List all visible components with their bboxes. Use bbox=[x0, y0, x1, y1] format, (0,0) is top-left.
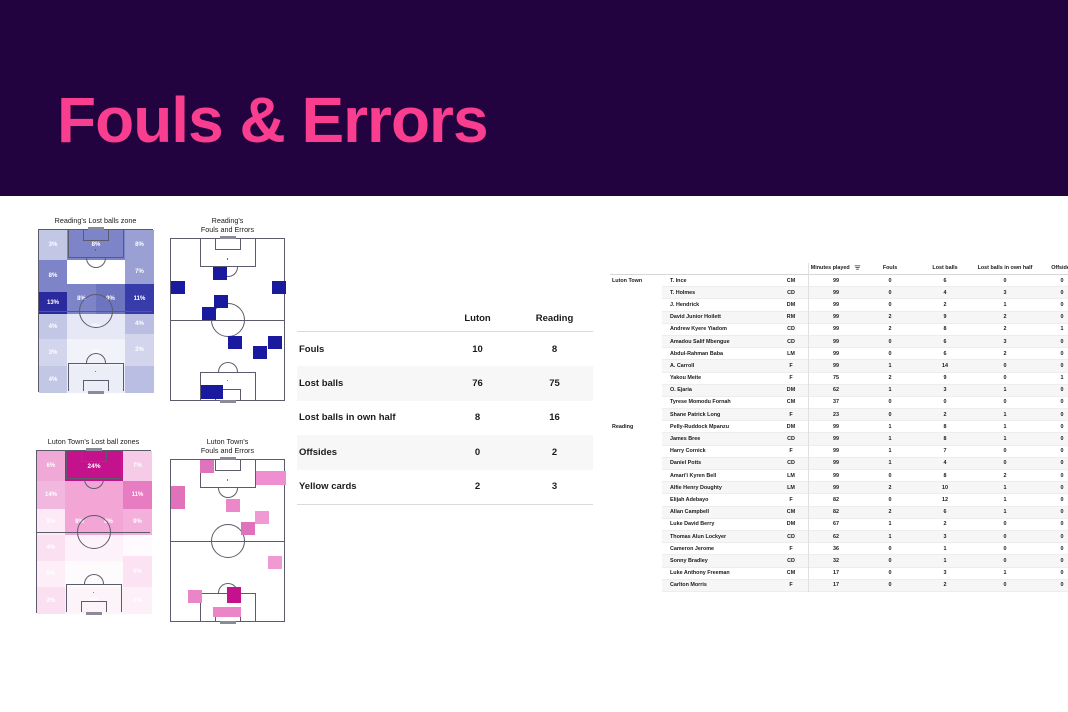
player-lost-balls: 2 bbox=[916, 579, 974, 591]
player-offsides: 0 bbox=[1036, 384, 1068, 396]
player-position: CD bbox=[774, 530, 808, 542]
player-offsides: 0 bbox=[1036, 409, 1068, 421]
match-summary-table: Luton Reading Fouls 10 8 Lost balls 76 7… bbox=[297, 313, 593, 505]
player-lost-balls-own-half: 0 bbox=[974, 275, 1036, 287]
player-fouls: 0 bbox=[864, 567, 916, 579]
zone-cell: 0% bbox=[65, 587, 123, 614]
player-position: CD bbox=[774, 457, 808, 469]
player-position: F bbox=[774, 360, 808, 372]
pitch-title-reading-fouls: Reading's Fouls and Errors bbox=[170, 216, 285, 234]
player-table-row[interactable]: Andrew Kyere YiadomCD992821 bbox=[610, 323, 1068, 335]
zone-cell: 9% bbox=[96, 284, 125, 314]
summary-header-reading: Reading bbox=[516, 313, 593, 332]
player-minutes-played: 17 bbox=[808, 567, 864, 579]
player-table-row[interactable]: Luke Anthony FreemanCM170310 bbox=[610, 567, 1068, 579]
player-table-row[interactable]: Allan CampbellCM822610 bbox=[610, 506, 1068, 518]
player-table-header-row: Minutes played Fouls Lost balls Lost bal… bbox=[610, 263, 1068, 275]
player-table-row[interactable]: Harry CornickF991700 bbox=[610, 445, 1068, 457]
player-name: Carlton Morris bbox=[662, 579, 774, 591]
player-position: CM bbox=[774, 567, 808, 579]
player-minutes-played: 37 bbox=[808, 396, 864, 408]
zone-cell bbox=[125, 366, 154, 393]
player-lost-balls-own-half: 3 bbox=[974, 335, 1036, 347]
player-lost-balls-own-half: 0 bbox=[974, 579, 1036, 591]
foul-marker bbox=[213, 607, 241, 617]
player-table-row[interactable]: Abdul-Rahman BabaLM990620 bbox=[610, 348, 1068, 360]
player-minutes-played: 99 bbox=[808, 348, 864, 360]
player-lost-balls: 6 bbox=[916, 506, 974, 518]
zone-cell: 0% bbox=[37, 561, 65, 587]
player-table-row[interactable]: Shane Patrick LongF230210 bbox=[610, 409, 1068, 421]
player-fouls: 0 bbox=[864, 396, 916, 408]
summary-row-yellow-cards: Yellow cards 2 3 bbox=[297, 470, 593, 505]
foul-marker bbox=[256, 471, 286, 485]
zone-cell: 14% bbox=[37, 481, 65, 509]
player-table-row[interactable]: Daniel PottsCD991400 bbox=[610, 457, 1068, 469]
player-name: Allan Campbell bbox=[662, 506, 774, 518]
player-position: F bbox=[774, 494, 808, 506]
player-team-label bbox=[610, 348, 662, 360]
player-table-row[interactable]: A. CarrollF9911400 bbox=[610, 360, 1068, 372]
player-team-label bbox=[610, 579, 662, 591]
player-position: DM bbox=[774, 299, 808, 311]
player-fouls: 0 bbox=[864, 348, 916, 360]
player-fouls: 1 bbox=[864, 421, 916, 433]
player-minutes-played: 99 bbox=[808, 335, 864, 347]
player-offsides: 0 bbox=[1036, 494, 1068, 506]
zone-cell: 8% bbox=[94, 509, 123, 535]
player-name: Amadou Salif Mbengue bbox=[662, 335, 774, 347]
player-lost-balls: 9 bbox=[916, 311, 974, 323]
player-lost-balls: 4 bbox=[916, 457, 974, 469]
player-name: Daniel Potts bbox=[662, 457, 774, 469]
player-position: CD bbox=[774, 323, 808, 335]
player-team-label bbox=[610, 470, 662, 482]
summary-header-row: Luton Reading bbox=[297, 313, 593, 332]
foul-marker bbox=[171, 486, 185, 509]
page-title: Fouls & Errors bbox=[57, 88, 488, 152]
summary-value-reading: 3 bbox=[516, 470, 593, 505]
player-name: Shane Patrick Long bbox=[662, 409, 774, 421]
player-lost-balls-own-half: 1 bbox=[974, 299, 1036, 311]
zone-cell: 8% bbox=[39, 260, 67, 292]
player-minutes-played: 99 bbox=[808, 323, 864, 335]
summary-header-blank bbox=[297, 313, 439, 332]
summary-value-reading: 75 bbox=[516, 366, 593, 401]
player-minutes-played: 99 bbox=[808, 470, 864, 482]
player-position: CD bbox=[774, 335, 808, 347]
player-table-row[interactable]: Carlton MorrisF170200 bbox=[610, 579, 1068, 591]
foul-marker bbox=[268, 336, 282, 349]
player-team-label bbox=[610, 555, 662, 567]
player-team-label bbox=[610, 518, 662, 530]
player-offsides: 0 bbox=[1036, 518, 1068, 530]
zone-cell: 7% bbox=[123, 451, 152, 481]
foul-marker bbox=[268, 556, 282, 569]
player-lost-balls-own-half: 1 bbox=[974, 567, 1036, 579]
player-lost-balls-own-half: 2 bbox=[974, 470, 1036, 482]
player-lost-balls: 6 bbox=[916, 335, 974, 347]
zone-cell: 0% bbox=[123, 587, 152, 614]
player-name: James Bree bbox=[662, 433, 774, 445]
player-lost-balls-own-half: 1 bbox=[974, 409, 1036, 421]
player-fouls: 1 bbox=[864, 445, 916, 457]
player-lost-balls-own-half: 2 bbox=[974, 323, 1036, 335]
player-team-label bbox=[610, 323, 662, 335]
zone-cell: 6% bbox=[37, 451, 65, 481]
player-header-team bbox=[610, 263, 662, 275]
player-lost-balls: 8 bbox=[916, 433, 974, 445]
player-lost-balls: 3 bbox=[916, 384, 974, 396]
zone-cell bbox=[65, 561, 123, 587]
player-table-row[interactable]: J. HendrickDM990210 bbox=[610, 299, 1068, 311]
player-header-lost-balls-own-half[interactable]: Lost balls in own half bbox=[974, 263, 1036, 275]
zone-cell: 4% bbox=[39, 314, 67, 339]
player-minutes-played: 82 bbox=[808, 494, 864, 506]
zone-cell: 2% bbox=[37, 587, 65, 614]
player-fouls: 0 bbox=[864, 335, 916, 347]
player-position: F bbox=[774, 372, 808, 384]
player-lost-balls: 4 bbox=[916, 287, 974, 299]
player-lost-balls: 8 bbox=[916, 323, 974, 335]
player-offsides: 1 bbox=[1036, 372, 1068, 384]
player-name: T. Holmes bbox=[662, 287, 774, 299]
player-fouls: 0 bbox=[864, 555, 916, 567]
zone-cell: 11% bbox=[125, 284, 154, 314]
player-lost-balls: 1 bbox=[916, 555, 974, 567]
player-lost-balls: 14 bbox=[916, 360, 974, 372]
player-position: LM bbox=[774, 482, 808, 494]
player-position: CM bbox=[774, 396, 808, 408]
zone-cell: 3% bbox=[39, 339, 67, 366]
summary-header-luton: Luton bbox=[439, 313, 516, 332]
player-minutes-played: 99 bbox=[808, 299, 864, 311]
zone-cell: 9% bbox=[123, 509, 152, 535]
player-table-row[interactable]: ReadingPelly-Ruddock MpanzuDM991810 bbox=[610, 421, 1068, 433]
player-name: Luke Anthony Freeman bbox=[662, 567, 774, 579]
summary-value-luton: 8 bbox=[439, 401, 516, 436]
player-minutes-played: 36 bbox=[808, 543, 864, 555]
zone-cell: 3% bbox=[39, 230, 67, 260]
zone-cell: 8% bbox=[67, 284, 96, 314]
player-offsides: 1 bbox=[1036, 323, 1068, 335]
player-offsides: 0 bbox=[1036, 360, 1068, 372]
player-team-label bbox=[610, 457, 662, 469]
player-team-label bbox=[610, 299, 662, 311]
player-name: Luke David Berry bbox=[662, 518, 774, 530]
player-fouls: 0 bbox=[864, 579, 916, 591]
player-fouls: 0 bbox=[864, 299, 916, 311]
zone-cell: 8% bbox=[125, 230, 154, 260]
player-lost-balls: 7 bbox=[916, 445, 974, 457]
player-fouls: 0 bbox=[864, 409, 916, 421]
player-lost-balls: 3 bbox=[916, 530, 974, 542]
player-offsides: 0 bbox=[1036, 555, 1068, 567]
player-offsides: 0 bbox=[1036, 348, 1068, 360]
player-fouls: 0 bbox=[864, 470, 916, 482]
player-minutes-played: 17 bbox=[808, 579, 864, 591]
player-table-row[interactable]: Cameron JeromeF360100 bbox=[610, 543, 1068, 555]
summary-row-lost-balls: Lost balls 76 75 bbox=[297, 366, 593, 401]
player-lost-balls: 9 bbox=[916, 372, 974, 384]
foul-marker bbox=[253, 346, 267, 359]
player-minutes-played: 32 bbox=[808, 555, 864, 567]
pitch-block-reading-lost-balls: Reading's Lost balls zone 3% 8% 8% 8% 8%… bbox=[38, 216, 153, 392]
player-fouls: 1 bbox=[864, 433, 916, 445]
summary-value-luton: 0 bbox=[439, 435, 516, 470]
summary-value-luton: 2 bbox=[439, 470, 516, 505]
player-lost-balls-own-half: 0 bbox=[974, 555, 1036, 567]
foul-marker bbox=[227, 587, 241, 603]
player-fouls: 0 bbox=[864, 494, 916, 506]
zone-cell: 11% bbox=[123, 481, 152, 509]
zone-cell: 3% bbox=[125, 334, 154, 366]
player-team-label: Luton Town bbox=[610, 275, 662, 287]
player-table-row[interactable]: Luton TownT. InceCM990600 bbox=[610, 275, 1068, 287]
pitch-luton-lost-ball-zones: 6% 24% 7% 14% 11% 8% 8% 9% 9% 4% 0% 0% 0… bbox=[36, 450, 151, 613]
player-position: DM bbox=[774, 518, 808, 530]
sort-icon[interactable] bbox=[854, 264, 861, 271]
player-lost-balls-own-half: 2 bbox=[974, 311, 1036, 323]
player-lost-balls-own-half: 0 bbox=[974, 360, 1036, 372]
player-team-label bbox=[610, 287, 662, 299]
player-team-label bbox=[610, 360, 662, 372]
player-name: Amari'i Kyren Bell bbox=[662, 470, 774, 482]
pitch-reading-fouls-and-errors bbox=[170, 238, 285, 401]
player-position: LM bbox=[774, 470, 808, 482]
player-fouls: 2 bbox=[864, 506, 916, 518]
player-fouls: 0 bbox=[864, 275, 916, 287]
summary-label: Lost balls in own half bbox=[297, 401, 439, 436]
player-name: David Junior Hoilett bbox=[662, 311, 774, 323]
player-minutes-played: 99 bbox=[808, 421, 864, 433]
player-fouls: 1 bbox=[864, 384, 916, 396]
pitch-block-reading-fouls: Reading's Fouls and Errors bbox=[170, 216, 285, 401]
player-table-row[interactable]: James BreeCD991810 bbox=[610, 433, 1068, 445]
player-fouls: 1 bbox=[864, 360, 916, 372]
foul-marker bbox=[255, 511, 269, 524]
player-position: CM bbox=[774, 275, 808, 287]
player-lost-balls: 3 bbox=[916, 567, 974, 579]
player-team-label bbox=[610, 409, 662, 421]
player-header-fouls[interactable]: Fouls bbox=[864, 263, 916, 275]
player-team-label bbox=[610, 335, 662, 347]
player-offsides: 0 bbox=[1036, 579, 1068, 591]
player-minutes-played: 99 bbox=[808, 433, 864, 445]
player-lost-balls-own-half: 1 bbox=[974, 506, 1036, 518]
player-table-row[interactable]: David Junior HoilettRM992920 bbox=[610, 311, 1068, 323]
player-team-label bbox=[610, 506, 662, 518]
summary-label: Yellow cards bbox=[297, 470, 439, 505]
player-team-label bbox=[610, 482, 662, 494]
player-table-row[interactable]: Amadou Salif MbengueCD990630 bbox=[610, 335, 1068, 347]
foul-marker bbox=[214, 295, 228, 308]
table-divider bbox=[808, 263, 809, 592]
player-team-label bbox=[610, 530, 662, 542]
player-fouls: 2 bbox=[864, 372, 916, 384]
player-lost-balls: 2 bbox=[916, 409, 974, 421]
player-lost-balls-own-half: 0 bbox=[974, 457, 1036, 469]
pitch-block-luton-fouls: Luton Town's Fouls and Errors bbox=[170, 437, 285, 622]
foul-marker bbox=[241, 522, 255, 535]
zone-cell: 13% bbox=[39, 292, 67, 314]
player-position: DM bbox=[774, 384, 808, 396]
player-position: RM bbox=[774, 311, 808, 323]
foul-marker bbox=[201, 385, 223, 399]
zone-cell bbox=[65, 535, 123, 561]
summary-value-reading: 8 bbox=[516, 332, 593, 367]
pitch-markings bbox=[171, 239, 284, 400]
player-name: Harry Cornick bbox=[662, 445, 774, 457]
player-table-row[interactable]: Amari'i Kyren BellLM990820 bbox=[610, 470, 1068, 482]
zone-cell: 24% bbox=[65, 451, 123, 481]
player-team-label bbox=[610, 543, 662, 555]
player-team-label bbox=[610, 311, 662, 323]
player-name: Alfie Henry Doughty bbox=[662, 482, 774, 494]
player-table-row[interactable]: Thomas Alun LockyerCD621300 bbox=[610, 530, 1068, 542]
player-offsides: 0 bbox=[1036, 421, 1068, 433]
player-lost-balls-own-half: 0 bbox=[974, 445, 1036, 457]
player-lost-balls: 1 bbox=[916, 543, 974, 555]
player-minutes-played: 99 bbox=[808, 482, 864, 494]
player-lost-balls-own-half: 1 bbox=[974, 421, 1036, 433]
summary-value-luton: 10 bbox=[439, 332, 516, 367]
player-table-row[interactable]: O. EjariaDM621310 bbox=[610, 384, 1068, 396]
foul-marker bbox=[202, 307, 216, 320]
player-offsides: 0 bbox=[1036, 482, 1068, 494]
foul-marker bbox=[200, 460, 214, 473]
summary-row-offsides: Offsides 0 2 bbox=[297, 435, 593, 470]
foul-marker bbox=[228, 336, 242, 349]
foul-marker bbox=[171, 281, 185, 294]
player-table-row[interactable]: Elijah AdebayoF8201210 bbox=[610, 494, 1068, 506]
zone-cell: 0% bbox=[67, 314, 125, 339]
player-team-label bbox=[610, 433, 662, 445]
player-table-row[interactable]: Luke David BerryDM671200 bbox=[610, 518, 1068, 530]
player-minutes-played: 82 bbox=[808, 506, 864, 518]
player-minutes-played: 99 bbox=[808, 457, 864, 469]
player-header-minutes-played[interactable]: Minutes played bbox=[808, 263, 864, 275]
summary-value-reading: 2 bbox=[516, 435, 593, 470]
player-lost-balls-own-half: 0 bbox=[974, 372, 1036, 384]
player-table-row[interactable]: Sonny BradleyCD320100 bbox=[610, 555, 1068, 567]
player-lost-balls: 2 bbox=[916, 518, 974, 530]
player-offsides: 0 bbox=[1036, 287, 1068, 299]
player-fouls: 0 bbox=[864, 543, 916, 555]
summary-row-lost-balls-own-half: Lost balls in own half 8 16 bbox=[297, 401, 593, 436]
player-team-label bbox=[610, 384, 662, 396]
foul-marker bbox=[188, 590, 202, 603]
player-lost-balls-own-half: 1 bbox=[974, 482, 1036, 494]
player-table-row[interactable]: Tyrese Momodu FornahCM370000 bbox=[610, 396, 1068, 408]
player-offsides: 0 bbox=[1036, 506, 1068, 518]
player-table-row[interactable]: Yakou MeiteF752901 bbox=[610, 372, 1068, 384]
player-minutes-played: 99 bbox=[808, 287, 864, 299]
player-minutes-played: 62 bbox=[808, 530, 864, 542]
player-lost-balls-own-half: 1 bbox=[974, 384, 1036, 396]
player-table-row[interactable]: Alfie Henry DoughtyLM9921010 bbox=[610, 482, 1068, 494]
player-name: A. Carroll bbox=[662, 360, 774, 372]
zone-cell: 4% bbox=[37, 535, 65, 561]
player-lost-balls-own-half: 2 bbox=[974, 348, 1036, 360]
player-team-label bbox=[610, 445, 662, 457]
player-lost-balls: 2 bbox=[916, 299, 974, 311]
foul-marker bbox=[226, 499, 240, 512]
player-offsides: 0 bbox=[1036, 396, 1068, 408]
player-minutes-played: 99 bbox=[808, 311, 864, 323]
player-minutes-played: 23 bbox=[808, 409, 864, 421]
player-fouls: 1 bbox=[864, 518, 916, 530]
player-fouls: 1 bbox=[864, 457, 916, 469]
player-team-label bbox=[610, 396, 662, 408]
player-minutes-played: 99 bbox=[808, 360, 864, 372]
player-lost-balls-own-half: 0 bbox=[974, 543, 1036, 555]
player-team-label bbox=[610, 494, 662, 506]
player-lost-balls-own-half: 1 bbox=[974, 494, 1036, 506]
player-position: CD bbox=[774, 287, 808, 299]
player-minutes-played: 99 bbox=[808, 275, 864, 287]
pitch-title-luton-lost-balls: Luton Town's Lost ball zones bbox=[36, 437, 151, 446]
player-name: Tyrese Momodu Fornah bbox=[662, 396, 774, 408]
player-offsides: 0 bbox=[1036, 530, 1068, 542]
zone-cell bbox=[67, 366, 125, 393]
player-minutes-played: 75 bbox=[808, 372, 864, 384]
player-position: F bbox=[774, 409, 808, 421]
pitch-title-reading-lost-balls: Reading's Lost balls zone bbox=[38, 216, 153, 225]
player-minutes-played: 62 bbox=[808, 384, 864, 396]
player-position: F bbox=[774, 579, 808, 591]
zone-cell: 3% bbox=[67, 339, 125, 366]
zone-cell: 8% bbox=[67, 230, 125, 260]
player-offsides: 0 bbox=[1036, 275, 1068, 287]
player-lost-balls-own-half: 1 bbox=[974, 433, 1036, 445]
player-lost-balls-own-half: 0 bbox=[974, 518, 1036, 530]
zone-cell bbox=[65, 481, 123, 509]
player-lost-balls: 10 bbox=[916, 482, 974, 494]
player-table-row[interactable]: T. HolmesCD990430 bbox=[610, 287, 1068, 299]
summary-label: Offsides bbox=[297, 435, 439, 470]
foul-marker bbox=[272, 281, 286, 294]
player-team-label: Reading bbox=[610, 421, 662, 433]
zone-cell: 8% bbox=[65, 509, 94, 535]
player-name: J. Hendrick bbox=[662, 299, 774, 311]
player-lost-balls: 8 bbox=[916, 421, 974, 433]
player-minutes-played: 99 bbox=[808, 445, 864, 457]
player-fouls: 2 bbox=[864, 323, 916, 335]
player-position: F bbox=[774, 445, 808, 457]
player-lost-balls: 6 bbox=[916, 348, 974, 360]
player-name: Pelly-Ruddock Mpanzu bbox=[662, 421, 774, 433]
player-name: Elijah Adebayo bbox=[662, 494, 774, 506]
player-offsides: 0 bbox=[1036, 543, 1068, 555]
player-lost-balls-own-half: 0 bbox=[974, 396, 1036, 408]
player-team-label bbox=[610, 567, 662, 579]
player-name: T. Ince bbox=[662, 275, 774, 287]
player-header-lost-balls[interactable]: Lost balls bbox=[916, 263, 974, 275]
player-fouls: 1 bbox=[864, 530, 916, 542]
player-minutes-played: 67 bbox=[808, 518, 864, 530]
player-header-offsides[interactable]: Offsides bbox=[1036, 263, 1068, 275]
player-position: LM bbox=[774, 348, 808, 360]
page-header-banner: Fouls & Errors bbox=[0, 0, 1068, 196]
summary-label: Fouls bbox=[297, 332, 439, 367]
pitch-reading-lost-balls-zone: 3% 8% 8% 8% 8% 9% 11% 7% 13% 4% 4% 0% 3%… bbox=[38, 229, 153, 392]
player-name: Cameron Jerome bbox=[662, 543, 774, 555]
player-lost-balls: 12 bbox=[916, 494, 974, 506]
player-lost-balls: 8 bbox=[916, 470, 974, 482]
zone-cell: 4% bbox=[39, 366, 67, 393]
player-header-position bbox=[774, 263, 808, 275]
